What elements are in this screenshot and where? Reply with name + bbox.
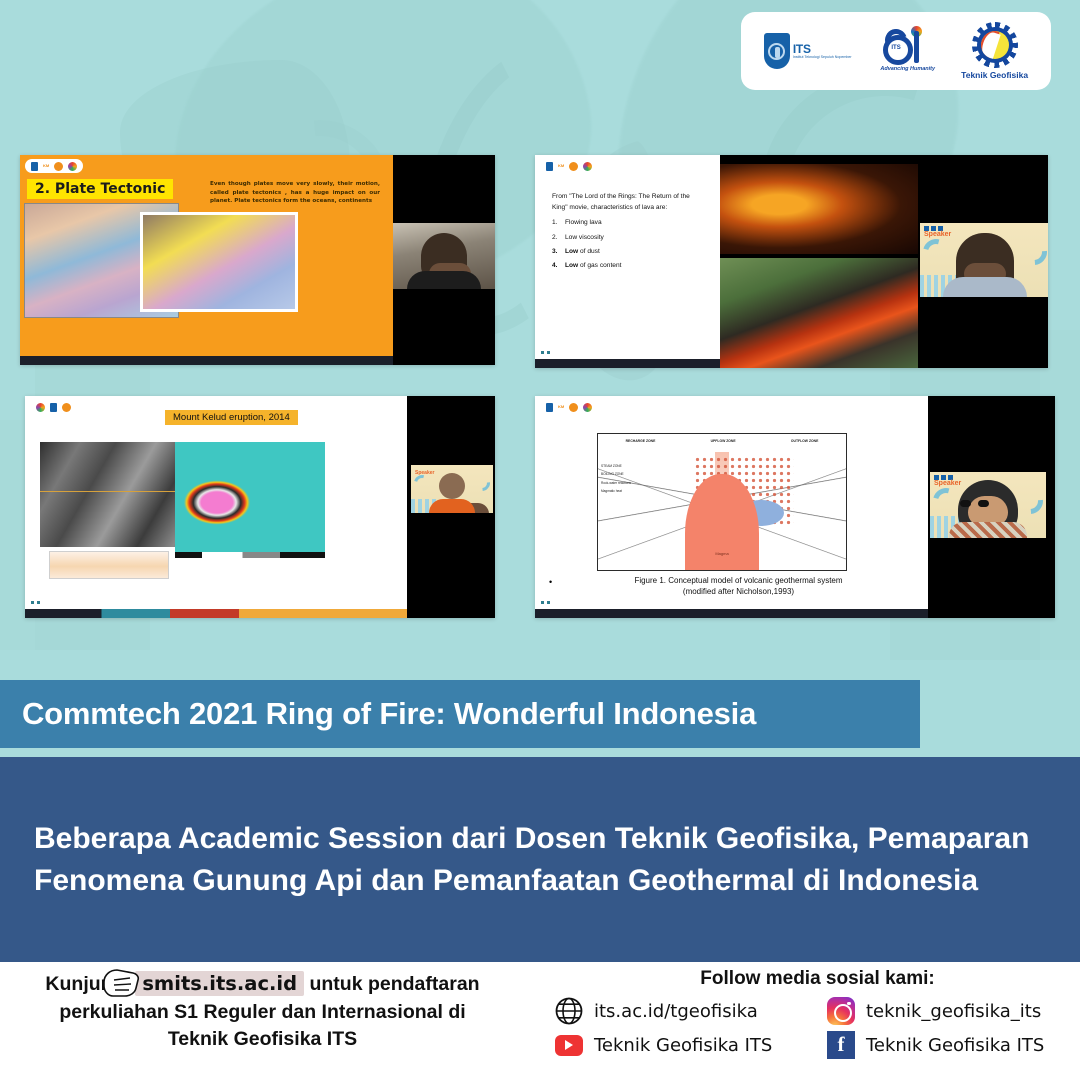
callout-line-2: perkuliahan S1 Reguler dan Internasional… <box>0 999 525 1027</box>
follow-heading: Follow media sosial kami: <box>555 968 1080 990</box>
its-mini-icon <box>31 162 38 171</box>
speaker-badge: Speaker <box>934 480 961 487</box>
zoom-toolbar[interactable] <box>535 609 928 618</box>
slide-content: Mount Kelud eruption, 2014 <box>25 396 407 618</box>
speaker-badge: Speaker <box>415 470 434 476</box>
kampus-merdeka-mini-icon: KM <box>558 164 564 168</box>
its-seal-mini-icon <box>36 403 45 412</box>
social-link-instagram[interactable]: teknik_geofisika_its <box>827 997 1079 1025</box>
figure-caption-line-2: (modified after Nicholson,1993) <box>563 587 914 598</box>
slide-title: Mount Kelud eruption, 2014 <box>165 410 298 425</box>
zoom-toolbar[interactable] <box>535 359 720 368</box>
kampus-merdeka-mini-icon: KM <box>43 164 49 168</box>
registration-url[interactable]: smits.its.ac.id <box>135 971 304 996</box>
list-item: 4. Low of gas content <box>552 261 704 272</box>
its-mini-icon <box>50 403 57 412</box>
slide-body: From "The Lord of the Rings: The Return … <box>552 192 704 275</box>
kampus-merdeka-mini-icon: KM <box>558 405 564 409</box>
globe-icon <box>555 997 583 1025</box>
callout-suffix: untuk pendaftaran <box>309 973 479 995</box>
side-label: BOILING ZONE <box>601 470 631 478</box>
speaker-badge: Speaker <box>924 231 951 238</box>
slide-header-logos <box>30 400 77 414</box>
its-mini-icon <box>546 162 553 171</box>
anniversary-caption: Advancing Humanity <box>880 66 935 72</box>
page-subtitle: Beberapa Academic Session dari Dosen Tek… <box>0 818 1080 902</box>
social-media-section: Follow media sosial kami: its.ac.id/tgeo… <box>555 968 1080 1059</box>
global-engagement-mini-icon <box>569 403 578 412</box>
aerial-lava-flow-video <box>720 258 918 368</box>
global-engagement-mini-icon <box>62 403 71 412</box>
social-link-website[interactable]: its.ac.id/tgeofisika <box>555 997 827 1025</box>
slide-title: 2. Plate Tectonic <box>27 179 173 199</box>
thermal-colormap-image <box>175 442 325 552</box>
slide-intro-text: From "The Lord of the Rings: The Return … <box>552 192 704 213</box>
slide-page-indicator <box>31 601 40 604</box>
slide-content: KM 2. Plate Tectonic Even though plates … <box>20 155 393 365</box>
zone-label-upflow: UPFLOW ZONE <box>711 439 736 443</box>
slide-header-logos: KM <box>25 159 83 173</box>
wave-decoration-icon <box>920 234 954 270</box>
zone-label-outflow: OUTFLOW ZONE <box>791 439 819 443</box>
social-label: Teknik Geofisika ITS <box>866 1035 1044 1056</box>
youtube-icon <box>555 1035 583 1056</box>
wave-decoration-icon <box>1016 234 1048 271</box>
figure-caption-line-1: Figure 1. Conceptual model of volcanic g… <box>563 576 914 587</box>
screenshot-panel-geothermal: KM RECHARGE ZONE UPFLOW ZONE OUTFLOW ZON… <box>535 396 1055 618</box>
registration-callout: Kunjungi smits.its.ac.id untuk pendaftar… <box>0 970 525 1054</box>
screenshot-panel-kelud: Mount Kelud eruption, 2014 Speaker <box>25 396 495 618</box>
speaker-camera-tile: Speaker <box>411 465 493 513</box>
geothermal-conceptual-diagram: RECHARGE ZONE UPFLOW ZONE OUTFLOW ZONE S… <box>597 433 847 571</box>
anniversary-logo: ITS Advancing Humanity <box>881 27 931 75</box>
callout-line-3: Teknik Geofisika ITS <box>0 1026 525 1054</box>
facebook-icon: f <box>827 1031 855 1059</box>
list-item: 2. Low viscosity <box>552 233 704 244</box>
social-link-youtube[interactable]: Teknik Geofisika ITS <box>555 1031 827 1059</box>
lava-characteristics-list: 1. Flowing lava 2. Low viscosity 3. Low … <box>552 218 704 271</box>
gear-globe-icon <box>972 22 1018 68</box>
sdg-mini-icon <box>583 403 592 412</box>
list-item: 3. Low of dust <box>552 247 704 258</box>
cross-section-profile-image <box>49 551 169 579</box>
slide-header-logos: KM <box>540 400 598 414</box>
anniversary-inner-label: ITS <box>891 45 900 51</box>
footer: Kunjungi smits.its.ac.id untuk pendaftar… <box>0 962 1080 1080</box>
social-label: teknik_geofisika_its <box>866 1001 1041 1022</box>
logo-card: ITS Institut Teknologi Sepuluh Nopember … <box>741 12 1051 90</box>
slide-page-indicator <box>541 351 550 354</box>
department-logo: Teknik Geofisika <box>961 22 1028 80</box>
social-links-grid: its.ac.id/tgeofisika teknik_geofisika_it… <box>555 997 1080 1059</box>
list-item: 1. Flowing lava <box>552 218 704 229</box>
slide-page-indicator <box>541 601 550 604</box>
anniversary-one-icon <box>914 31 919 63</box>
its-logo-subtitle: Institut Teknologi Sepuluh Nopember <box>793 55 852 60</box>
diagram-side-labels: STEAM ZONE BOILING ZONE Rock-water react… <box>601 462 631 495</box>
zone-label-recharge: RECHARGE ZONE <box>626 439 656 443</box>
global-engagement-mini-icon <box>569 162 578 171</box>
sdg-mini-icon <box>68 162 77 171</box>
caption-bullet-icon: • <box>549 577 552 587</box>
figure-caption: Figure 1. Conceptual model of volcanic g… <box>563 576 914 598</box>
department-logo-label: Teknik Geofisika <box>961 70 1028 80</box>
speaker-camera-tile <box>393 223 495 289</box>
lava-closeup-video <box>720 164 918 254</box>
global-engagement-mini-icon <box>54 162 63 171</box>
side-label: Magmatic heat <box>601 487 631 495</box>
side-label: Rock-water reactions <box>601 479 631 487</box>
slide-content: KM From "The Lord of the Rings: The Retu… <box>535 155 720 368</box>
its-shield-icon <box>764 33 790 69</box>
screenshot-panel-lava: KM From "The Lord of the Rings: The Retu… <box>535 155 1048 368</box>
tectonic-boundaries-map-image <box>140 212 298 312</box>
its-logo-name: ITS <box>793 43 852 55</box>
event-title-bar: Commtech 2021 Ring of Fire: Wonderful In… <box>0 680 920 748</box>
zoom-toolbar[interactable] <box>25 609 407 618</box>
slide-body-text: Even though plates move very slowly, the… <box>210 180 380 206</box>
slide-content: KM RECHARGE ZONE UPFLOW ZONE OUTFLOW ZON… <box>535 396 928 618</box>
side-label: STEAM ZONE <box>601 462 631 470</box>
speaker-camera-tile: Speaker <box>920 223 1048 297</box>
wave-decoration-icon <box>471 472 493 495</box>
speaker-camera-tile: Speaker <box>930 472 1046 538</box>
diagram-zone-labels: RECHARGE ZONE UPFLOW ZONE OUTFLOW ZONE <box>598 439 846 443</box>
its-logo: ITS Institut Teknologi Sepuluh Nopember <box>764 33 852 69</box>
slide-header-logos: KM <box>540 159 598 173</box>
social-label: Teknik Geofisika ITS <box>594 1035 772 1056</box>
social-link-facebook[interactable]: f Teknik Geofisika ITS <box>827 1031 1079 1059</box>
magma-label: Magma <box>715 551 728 556</box>
its-mini-icon <box>546 403 553 412</box>
pointing-hand-icon <box>100 966 142 1000</box>
sdg-mini-icon <box>583 162 592 171</box>
page-title: Commtech 2021 Ring of Fire: Wonderful In… <box>0 696 756 732</box>
screenshot-panel-plate-tectonic: KM 2. Plate Tectonic Even though plates … <box>20 155 495 365</box>
zoom-toolbar[interactable] <box>20 356 393 365</box>
instagram-icon <box>827 997 855 1025</box>
event-subtitle-block: Beberapa Academic Session dari Dosen Tek… <box>0 757 1080 962</box>
social-label: its.ac.id/tgeofisika <box>594 1001 758 1022</box>
